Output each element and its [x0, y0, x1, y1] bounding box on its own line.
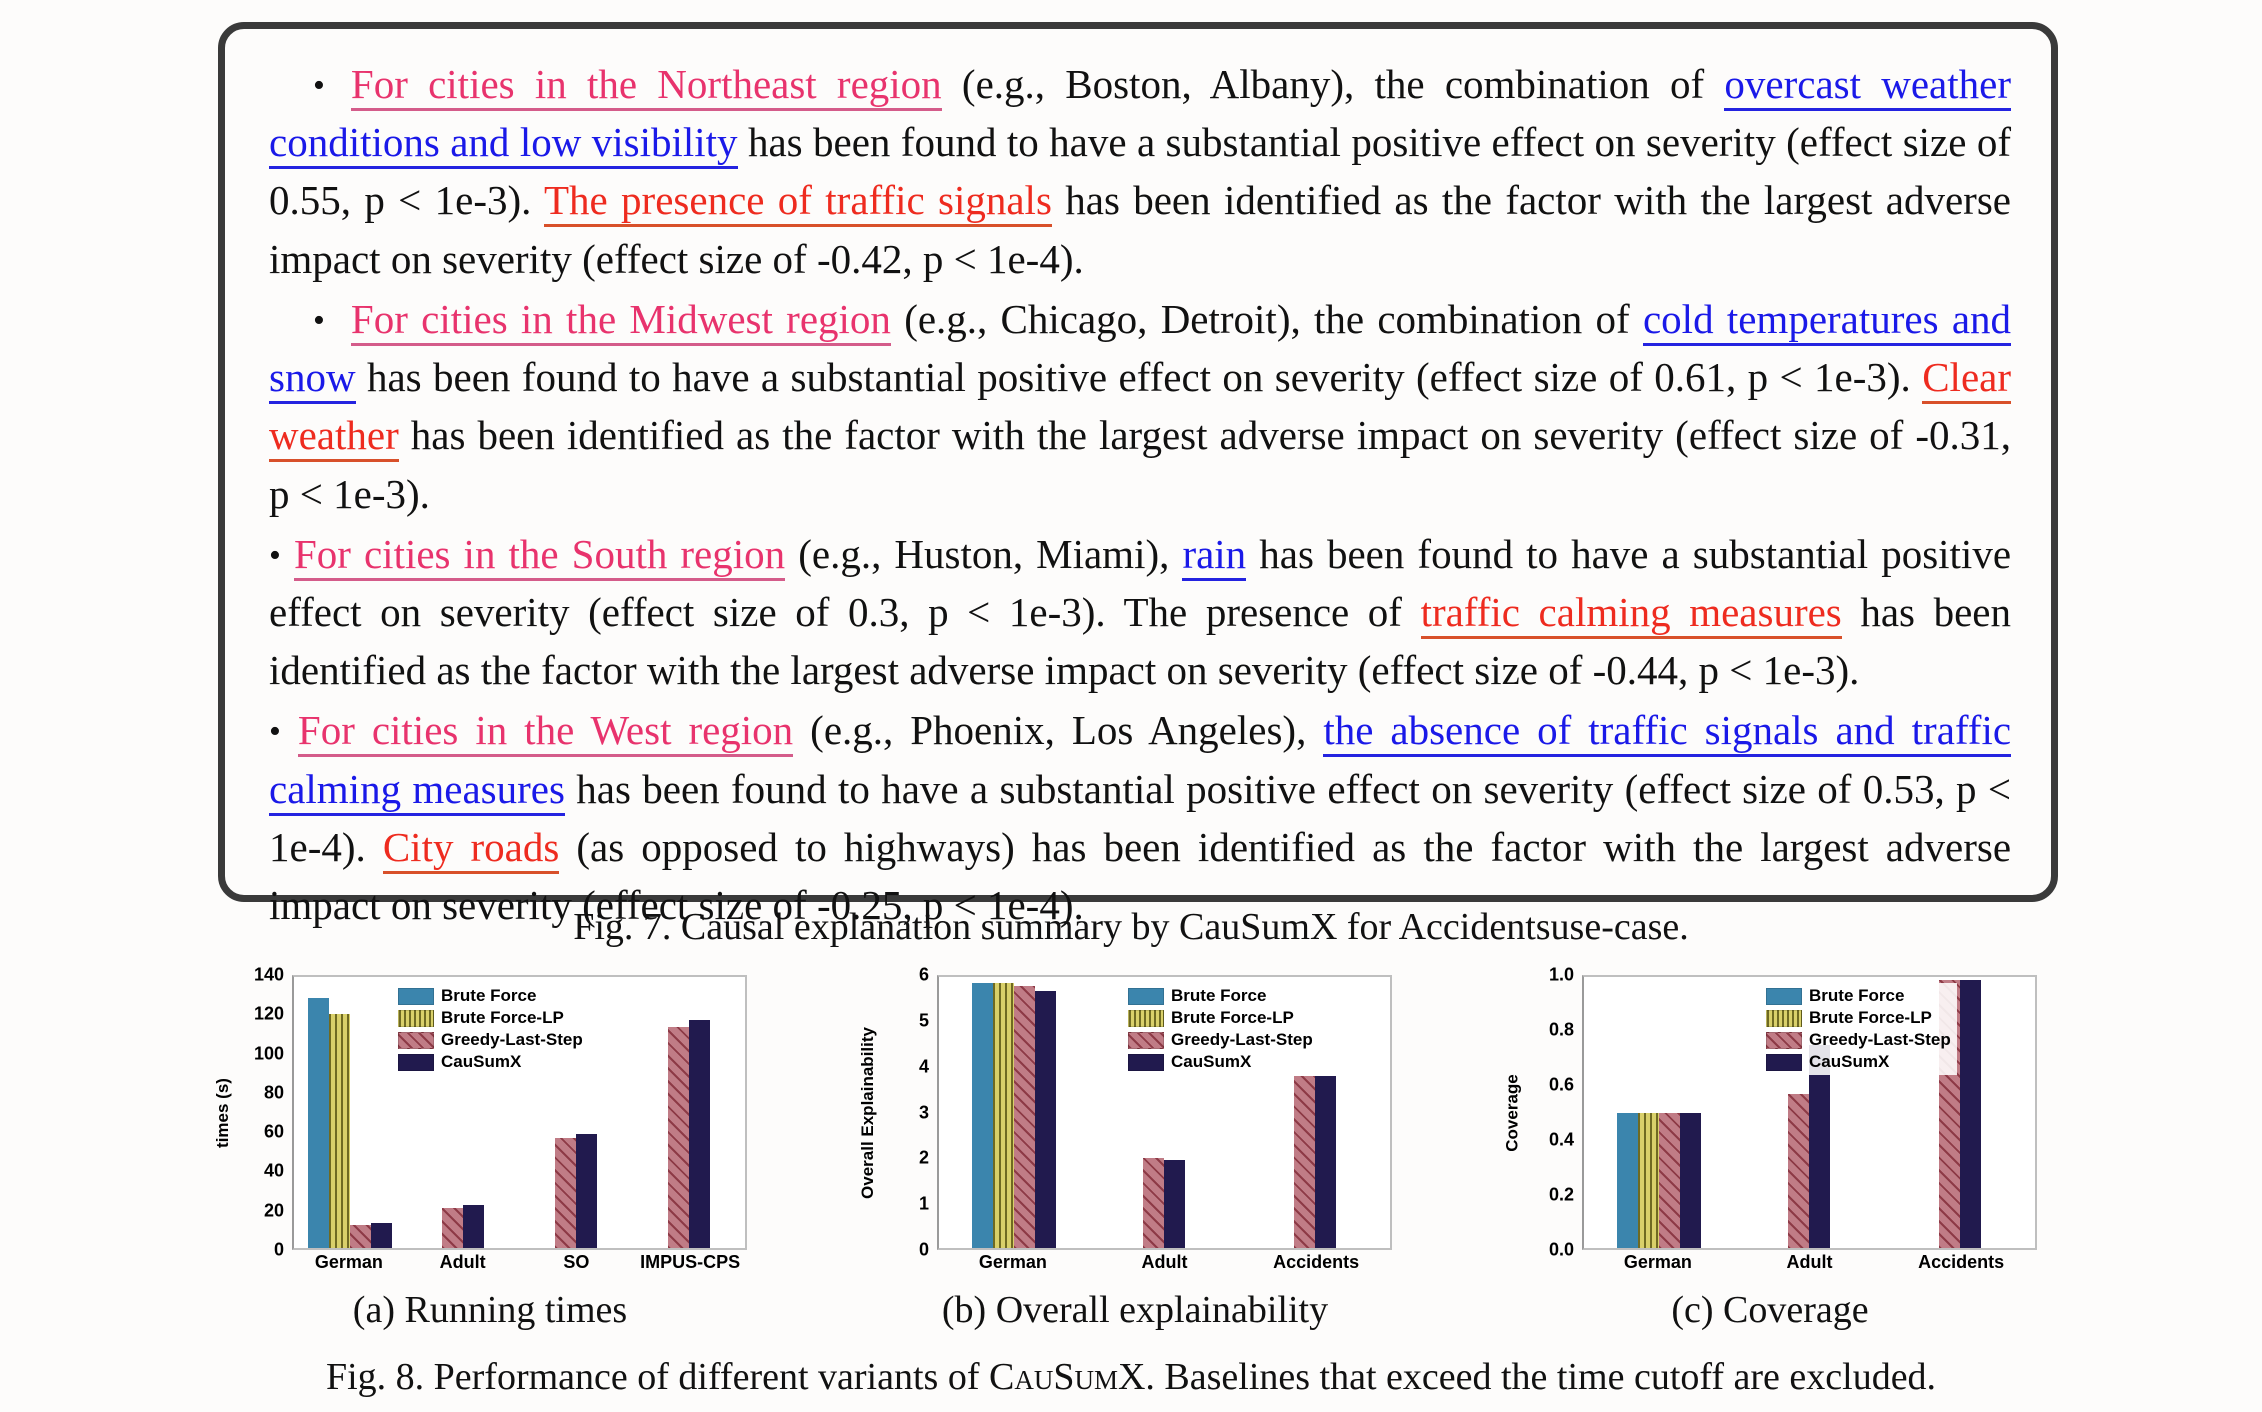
- ytick: 6: [919, 965, 929, 986]
- bar-brute-force: [972, 983, 993, 1248]
- ytick: 40: [264, 1161, 284, 1182]
- chart-b-plot-area: Brute Force Brute Force-LP Greedy-Last-S…: [937, 975, 1392, 1250]
- region-phrase-midwest: For cities in the Midwest region: [351, 296, 891, 346]
- subcaption-a: (a) Running times: [210, 1288, 770, 1332]
- ytick: 5: [919, 1010, 929, 1031]
- chart-c-legend: Brute Force Brute Force-LP Greedy-Last-S…: [1762, 983, 1957, 1075]
- legend-label: Brute Force-LP: [1171, 1008, 1294, 1028]
- chart-a-ylabel-text: times (s): [213, 1078, 233, 1148]
- ytick: 100: [254, 1043, 284, 1064]
- ytick: 1.0: [1549, 965, 1574, 986]
- adverse-phrase-west: City roads: [383, 824, 560, 874]
- ytick: 120: [254, 1004, 284, 1025]
- legend-swatch-brute-force-icon: [1766, 988, 1802, 1005]
- chart-b-yticks: 0 1 2 3 4 5 6: [877, 975, 935, 1250]
- legend-label: Brute Force-LP: [441, 1008, 564, 1028]
- bar-causumx: [1680, 1113, 1701, 1249]
- legend-item-brute-force: Brute Force: [398, 986, 583, 1006]
- legend-label: CauSumX: [1809, 1052, 1889, 1072]
- factor-phrase-south: rain: [1182, 531, 1246, 581]
- legend-item-causumx: CauSumX: [398, 1052, 583, 1072]
- figure-8-caption-prefix: Fig. 8. Performance of different variant…: [326, 1356, 989, 1398]
- bar-greedy-last-step: [1014, 986, 1035, 1248]
- bar-greedy-last-step: [442, 1208, 463, 1248]
- figure-8-caption-method: CauSumX: [989, 1356, 1145, 1398]
- bar-causumx: [1315, 1076, 1336, 1248]
- bar-causumx: [576, 1134, 597, 1248]
- bar-greedy-last-step: [1294, 1076, 1315, 1248]
- bar-brute-force: [1617, 1113, 1638, 1249]
- xtick: German: [937, 1252, 1089, 1273]
- figure-8-caption: Fig. 8. Performance of different variant…: [0, 1355, 2262, 1399]
- bullet-south: • For cities in the South region (e.g., …: [269, 525, 2011, 700]
- bar-causumx: [689, 1020, 710, 1248]
- causal-summary-box: •For cities in the Northeast region (e.g…: [218, 22, 2058, 902]
- bar-greedy-last-step: [1143, 1158, 1164, 1248]
- legend-item-brute-force-lp: Brute Force-LP: [1128, 1008, 1313, 1028]
- legend-swatch-greedy-last-step-icon: [1128, 1032, 1164, 1049]
- legend-item-brute-force: Brute Force: [1766, 986, 1951, 1006]
- xtick: Adult: [406, 1252, 520, 1273]
- bar-causumx: [371, 1223, 392, 1248]
- after-region-south: (e.g., Huston, Miami),: [798, 531, 1169, 577]
- adverse-phrase-south: traffic calming measures: [1421, 589, 1842, 639]
- legend-swatch-brute-force-lp-icon: [398, 1010, 434, 1027]
- xtick: German: [1582, 1252, 1734, 1273]
- legend-item-greedy-last-step: Greedy-Last-Step: [398, 1030, 583, 1050]
- legend-swatch-brute-force-lp-icon: [1128, 1010, 1164, 1027]
- subcaption-b: (b) Overall explainability: [855, 1288, 1415, 1332]
- bar-greedy-last-step: [1659, 1113, 1680, 1249]
- legend-swatch-greedy-last-step-icon: [398, 1032, 434, 1049]
- ytick: 80: [264, 1082, 284, 1103]
- chart-c-plot-area: Brute Force Brute Force-LP Greedy-Last-S…: [1582, 975, 2037, 1250]
- chart-c-ylabel-text: Coverage: [1503, 1074, 1523, 1151]
- tail-text-northeast: has been identified as the factor with t…: [269, 177, 2011, 281]
- bar-causumx: [1809, 1045, 1830, 1248]
- xtick: Adult: [1734, 1252, 1886, 1273]
- chart-a-plot-area: Brute Force Brute Force-LP Greedy-Last-S…: [292, 975, 747, 1250]
- bar-group-german: [1584, 977, 1734, 1248]
- figure-8-caption-suffix: . Baselines that exceed the time cutoff …: [1145, 1356, 1936, 1398]
- legend-label: Brute Force: [441, 986, 536, 1006]
- legend-item-greedy-last-step: Greedy-Last-Step: [1766, 1030, 1951, 1050]
- figure-7-caption: Fig. 7. Causal explanation summary by Ca…: [0, 905, 2262, 949]
- legend-swatch-brute-force-icon: [1128, 988, 1164, 1005]
- ytick: 0.4: [1549, 1130, 1574, 1151]
- bullet-marker: •: [313, 67, 325, 104]
- bar-group-german: [939, 977, 1089, 1248]
- legend-swatch-causumx-icon: [1128, 1054, 1164, 1071]
- figure-8-charts: times (s) 0 20 40 60 80 100 120 140: [210, 975, 2060, 1305]
- bullet-midwest: •For cities in the Midwest region (e.g.,…: [269, 290, 2011, 523]
- legend-item-greedy-last-step: Greedy-Last-Step: [1128, 1030, 1313, 1050]
- ytick: 140: [254, 965, 284, 986]
- bar-brute-force-lp: [329, 1014, 350, 1248]
- region-phrase-west: For cities in the West region: [298, 707, 793, 757]
- mid-text-midwest: has been found to have a substantial pos…: [367, 354, 1911, 400]
- paper-figure-page: •For cities in the Northeast region (e.g…: [0, 0, 2262, 1412]
- xtick: IMPUS-CPS: [633, 1252, 747, 1273]
- legend-item-brute-force: Brute Force: [1128, 986, 1313, 1006]
- xtick: Adult: [1089, 1252, 1241, 1273]
- legend-label: CauSumX: [1171, 1052, 1251, 1072]
- ytick: 0.0: [1549, 1240, 1574, 1261]
- legend-swatch-brute-force-lp-icon: [1766, 1010, 1802, 1027]
- legend-item-brute-force-lp: Brute Force-LP: [398, 1008, 583, 1028]
- bullet-marker: •: [269, 537, 281, 574]
- legend-label: Brute Force-LP: [1809, 1008, 1932, 1028]
- legend-label: Greedy-Last-Step: [1171, 1030, 1313, 1050]
- bar-causumx: [463, 1205, 484, 1248]
- bar-greedy-last-step: [668, 1027, 689, 1248]
- bullet-marker: •: [269, 713, 281, 750]
- bar-group-impus-cps: [632, 977, 745, 1248]
- ytick: 0: [919, 1240, 929, 1261]
- chart-panel-c: Coverage 0.0 0.2 0.4 0.6 0.8 1.0: [1500, 975, 2060, 1305]
- chart-c-yticks: 0.0 0.2 0.4 0.6 0.8 1.0: [1522, 975, 1580, 1250]
- tail-text-midwest: has been identified as the factor with t…: [269, 412, 2011, 516]
- legend-label: Brute Force: [1171, 986, 1266, 1006]
- bullet-west: • For cities in the West region (e.g., P…: [269, 701, 2011, 934]
- chart-c-xticks: German Adult Accidents: [1582, 1252, 2037, 1273]
- bar-brute-force-lp: [1638, 1113, 1659, 1249]
- legend-swatch-causumx-icon: [398, 1054, 434, 1071]
- xtick: Accidents: [1885, 1252, 2037, 1273]
- legend-item-causumx: CauSumX: [1128, 1052, 1313, 1072]
- ytick: 0.8: [1549, 1020, 1574, 1041]
- bar-causumx: [1960, 980, 1981, 1248]
- chart-a-xticks: German Adult SO IMPUS-CPS: [292, 1252, 747, 1273]
- bar-causumx: [1164, 1160, 1185, 1248]
- ytick: 0.6: [1549, 1075, 1574, 1096]
- bullet-marker: •: [313, 302, 325, 339]
- xtick: Accidents: [1240, 1252, 1392, 1273]
- ytick: 3: [919, 1102, 929, 1123]
- bar-causumx: [1035, 991, 1056, 1248]
- bar-greedy-last-step: [555, 1138, 576, 1248]
- region-phrase-south: For cities in the South region: [294, 531, 785, 581]
- bar-brute-force: [308, 998, 329, 1248]
- chart-b-legend: Brute Force Brute Force-LP Greedy-Last-S…: [1124, 983, 1319, 1075]
- bar-brute-force-lp: [993, 983, 1014, 1248]
- chart-a-yticks: 0 20 40 60 80 100 120 140: [232, 975, 290, 1250]
- xtick: SO: [520, 1252, 634, 1273]
- legend-swatch-causumx-icon: [1766, 1054, 1802, 1071]
- after-region-west: (e.g., Phoenix, Los Angeles),: [810, 707, 1306, 753]
- legend-label: Brute Force: [1809, 986, 1904, 1006]
- region-phrase-northeast: For cities in the Northeast region: [351, 61, 942, 111]
- bar-group-german: [294, 977, 407, 1248]
- ytick: 20: [264, 1200, 284, 1221]
- ytick: 60: [264, 1122, 284, 1143]
- legend-label: Greedy-Last-Step: [1809, 1030, 1951, 1050]
- chart-b-ylabel-text: Overall Explainability: [858, 1027, 878, 1199]
- legend-item-causumx: CauSumX: [1766, 1052, 1951, 1072]
- chart-panel-b: Overall Explainability 0 1 2 3 4 5 6: [855, 975, 1415, 1305]
- bar-greedy-last-step: [1788, 1094, 1809, 1248]
- subcaption-c: (c) Coverage: [1490, 1288, 2050, 1332]
- chart-a-legend: Brute Force Brute Force-LP Greedy-Last-S…: [394, 983, 589, 1075]
- legend-label: CauSumX: [441, 1052, 521, 1072]
- ytick: 0: [274, 1240, 284, 1261]
- after-region-northeast: (e.g., Boston, Albany), the combination …: [962, 61, 1704, 107]
- ytick: 4: [919, 1056, 929, 1077]
- xtick: German: [292, 1252, 406, 1273]
- bullet-northeast: •For cities in the Northeast region (e.g…: [269, 55, 2011, 288]
- chart-panel-a: times (s) 0 20 40 60 80 100 120 140: [210, 975, 770, 1305]
- legend-swatch-greedy-last-step-icon: [1766, 1032, 1802, 1049]
- after-region-midwest: (e.g., Chicago, Detroit), the combinatio…: [904, 296, 1630, 342]
- ytick: 0.2: [1549, 1185, 1574, 1206]
- ytick: 2: [919, 1148, 929, 1169]
- ytick: 1: [919, 1194, 929, 1215]
- adverse-phrase-northeast: The presence of traffic signals: [544, 177, 1052, 227]
- bar-greedy-last-step: [350, 1225, 371, 1248]
- legend-swatch-brute-force-icon: [398, 988, 434, 1005]
- legend-label: Greedy-Last-Step: [441, 1030, 583, 1050]
- legend-item-brute-force-lp: Brute Force-LP: [1766, 1008, 1951, 1028]
- chart-b-xticks: German Adult Accidents: [937, 1252, 1392, 1273]
